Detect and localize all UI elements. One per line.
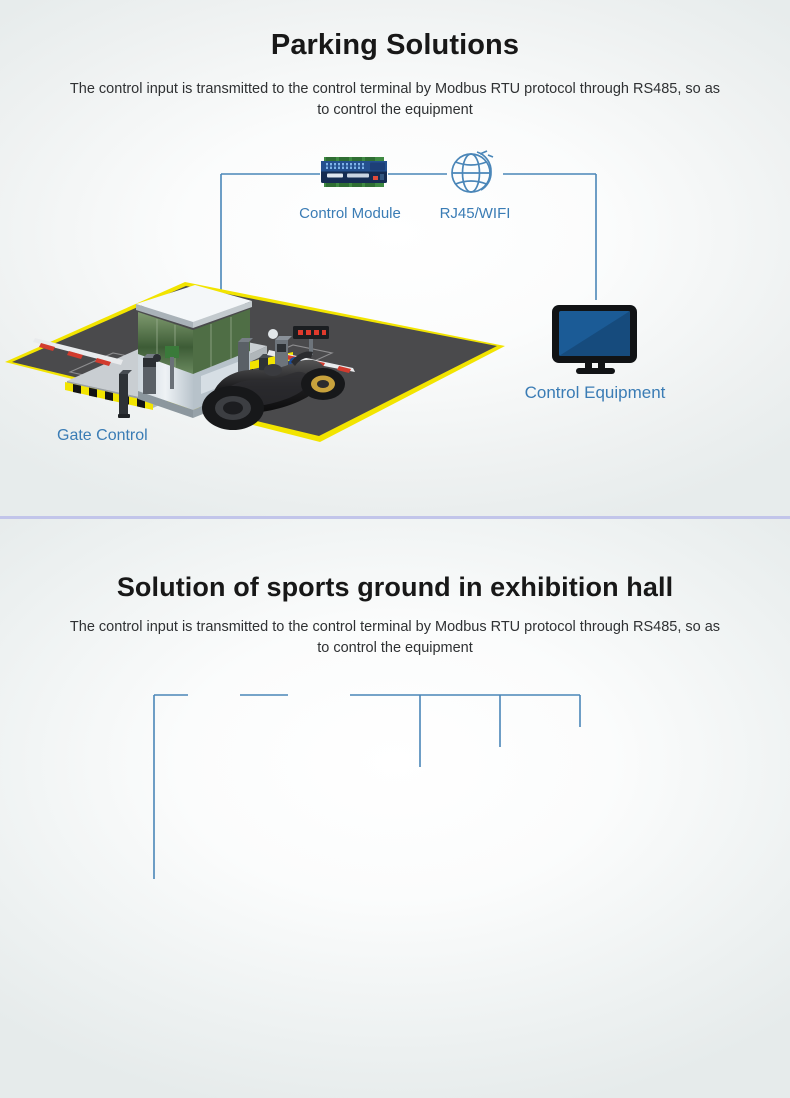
pcb-module-icon xyxy=(320,154,388,190)
label-gate-control: Gate Control xyxy=(57,427,148,445)
section-parking: Parking Solutions The control input is t… xyxy=(0,0,790,518)
page-title: Parking Solutions xyxy=(0,29,790,62)
section2-title: Solution of sports ground in exhibition … xyxy=(0,572,790,603)
page-subtitle: The control input is transmitted to the … xyxy=(65,79,725,121)
page-root: Parking Solutions The control input is t… xyxy=(0,0,790,1098)
section2-subtitle: The control input is transmitted to the … xyxy=(65,617,725,659)
monitor-icon xyxy=(549,300,642,375)
globe-icon xyxy=(447,147,503,199)
label-rj45-wifi: RJ45/WIFI xyxy=(400,205,550,222)
connector-lines-sports xyxy=(0,519,790,1098)
section-sports-ground: Solution of sports ground in exhibition … xyxy=(0,519,790,1098)
